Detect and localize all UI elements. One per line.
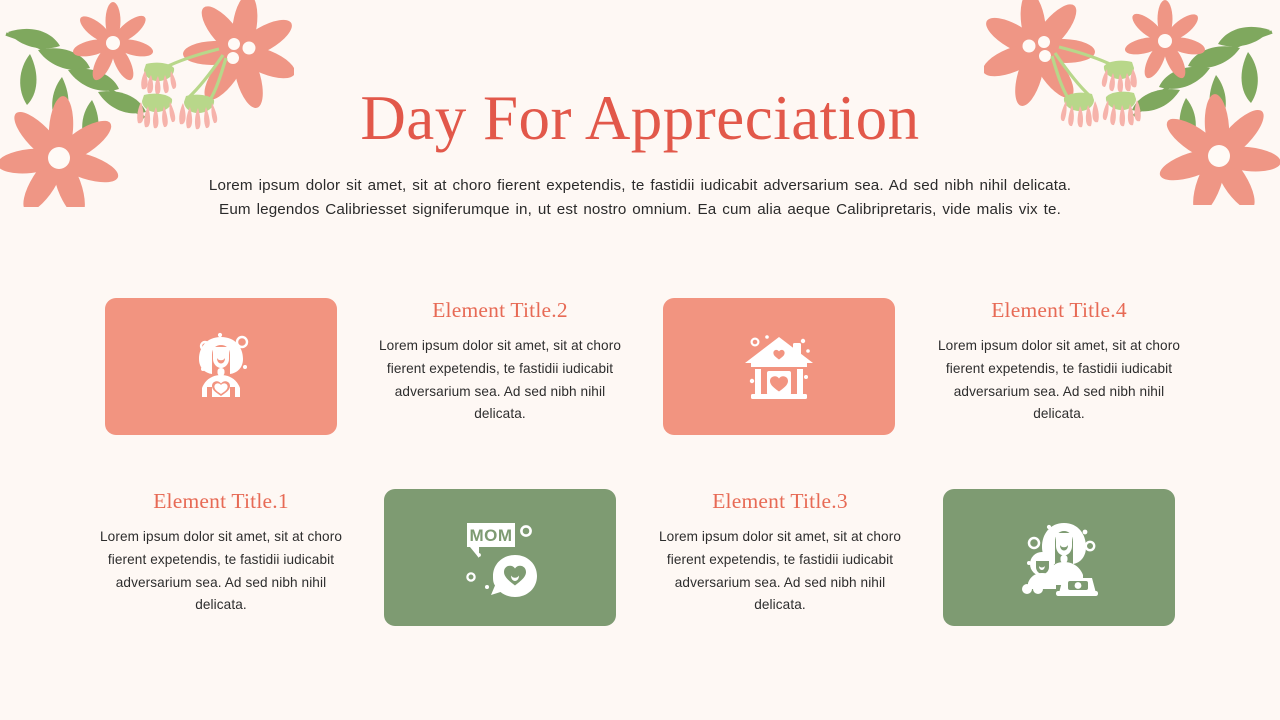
element-4-body: Lorem ipsum dolor sit amet, sit at choro… bbox=[933, 335, 1185, 426]
element-3-icon-card[interactable] bbox=[663, 298, 895, 435]
element-1-title: Element Title.1 bbox=[95, 489, 347, 514]
mother-with-heart-icon bbox=[179, 325, 263, 409]
element-1-textblock: Element Title.1 Lorem ipsum dolor sit am… bbox=[95, 489, 347, 617]
element-2-icon-card[interactable]: MOM bbox=[384, 489, 616, 626]
daisy-flower-small-icon bbox=[1123, 0, 1206, 81]
mom-speech-bubble-icon: MOM bbox=[457, 515, 543, 601]
home-with-heart-icon bbox=[737, 325, 821, 409]
element-2-title: Element Title.2 bbox=[374, 298, 626, 323]
element-4-icon-card[interactable] bbox=[943, 489, 1175, 626]
svg-text:MOM: MOM bbox=[469, 526, 512, 545]
elements-row-2: Element Title.1 Lorem ipsum dolor sit am… bbox=[0, 476, 1280, 666]
element-4-textblock: Element Title.4 Lorem ipsum dolor sit am… bbox=[933, 298, 1185, 426]
subtitle-line-2: Eum legendos Calibriesset signiferumque … bbox=[0, 198, 1280, 223]
element-3-title: Element Title.3 bbox=[654, 489, 906, 514]
mother-child-laptop-icon bbox=[1016, 515, 1102, 601]
element-2-textblock: Element Title.2 Lorem ipsum dolor sit am… bbox=[374, 298, 626, 426]
page-title: Day For Appreciation bbox=[0, 86, 1280, 152]
elements-row-1: Element Title.2 Lorem ipsum dolor sit am… bbox=[0, 286, 1280, 476]
header: Day For Appreciation Lorem ipsum dolor s… bbox=[0, 86, 1280, 223]
element-1-icon-card[interactable] bbox=[105, 298, 337, 435]
subtitle-line-1: Lorem ipsum dolor sit amet, sit at choro… bbox=[0, 174, 1280, 199]
daisy-flower-small-icon bbox=[71, 2, 154, 83]
element-3-textblock: Element Title.3 Lorem ipsum dolor sit am… bbox=[654, 489, 906, 617]
element-3-body: Lorem ipsum dolor sit amet, sit at choro… bbox=[654, 526, 906, 617]
element-2-body: Lorem ipsum dolor sit amet, sit at choro… bbox=[374, 335, 626, 426]
element-1-body: Lorem ipsum dolor sit amet, sit at choro… bbox=[95, 526, 347, 617]
subtitle-block: Lorem ipsum dolor sit amet, sit at choro… bbox=[0, 174, 1280, 223]
elements-grid: Element Title.2 Lorem ipsum dolor sit am… bbox=[0, 286, 1280, 666]
element-4-title: Element Title.4 bbox=[933, 298, 1185, 323]
